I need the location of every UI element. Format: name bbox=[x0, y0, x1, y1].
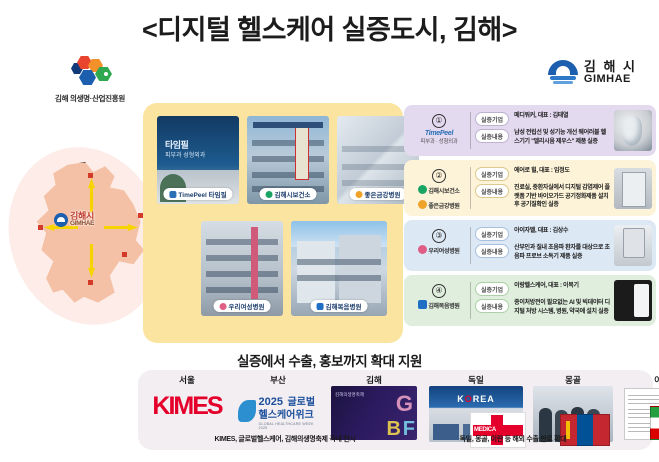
gimhae-city-emblem-icon bbox=[548, 58, 578, 88]
card-3-thumbnail bbox=[614, 225, 652, 266]
photo-label: 김해복음병원 bbox=[311, 300, 368, 312]
city-label-busan: 부산 bbox=[234, 374, 322, 386]
card-4-org: ④ 김해복음병원 bbox=[408, 280, 470, 312]
photo-health-center: 김해시보건소 bbox=[247, 116, 329, 204]
card-2-org-sub: 좋은금강병원 bbox=[428, 204, 459, 210]
card-3-content-row: 실증내용 산부인과 질내 초음파 환자를 대상으로 초음파 프로브 소독기 제품… bbox=[475, 244, 611, 261]
photo-panel: 타임필 피부과 성형외과 TimePeel 타임필 김해시보건소 bbox=[143, 103, 403, 343]
card-1-content-row: 실증내용 남성 전립선 및 성기능 개선 웨어러블 헬스기기 "엘리시움 제우스… bbox=[475, 129, 611, 146]
card-1-company: 메디워커, 대표 : 김태열 bbox=[514, 112, 568, 121]
map-city-emblem-icon bbox=[54, 213, 68, 227]
photo-label: 김해시보건소 bbox=[260, 188, 317, 200]
card-4-content: 종이처방전이 필요없는 AI 및 빅데이터 디지털 처방 시스템, 병원, 약국… bbox=[514, 299, 611, 316]
card-1-company-row: 실증기업 메디워커, 대표 : 김태열 bbox=[475, 112, 611, 126]
badge-company: 실증기업 bbox=[475, 112, 509, 126]
logo-left-caption: 김해 의생명·산업진흥원 bbox=[30, 93, 150, 104]
badge-company: 실증기업 bbox=[475, 167, 509, 181]
card-3-number: ③ bbox=[432, 229, 446, 243]
card-3-org-main: 우리여성병원 bbox=[428, 249, 459, 255]
logo-gimhae-biomedical: 김해 의생명·산업진흥원 bbox=[30, 56, 150, 104]
card-2[interactable]: ② 김해시보건소 좋은금강병원 실증기업 에어로 힐, 대표 : 임정도 실증내… bbox=[404, 160, 656, 216]
logo-gimhae-city: 김 해 시 GIMHAE bbox=[548, 58, 637, 88]
card-4-number: ④ bbox=[432, 284, 446, 298]
card-4[interactable]: ④ 김해복음병원 실증기업 이랑헬스케어, 대표 : 이복기 실증내용 종이처방… bbox=[404, 275, 656, 326]
womens-hospital-icon bbox=[418, 245, 427, 254]
city-label-germany: 독일 bbox=[426, 374, 526, 386]
card-3-company-row: 실증기업 아이자벨, 대표 : 김상수 bbox=[475, 227, 611, 241]
divider bbox=[470, 167, 471, 209]
caption-domestic: KIMES, 글로벌헬스케어, 김해의생명축제 국내 전시 bbox=[160, 434, 410, 444]
health-center-icon bbox=[418, 185, 427, 194]
city-logo-en: GIMHAE bbox=[584, 74, 637, 86]
photo-sign-sub: 피부과 성형외과 bbox=[165, 150, 205, 159]
card-2-org-main: 김해시보건소 bbox=[428, 189, 459, 195]
badge-content: 실증내용 bbox=[475, 129, 509, 143]
map-center-en: GIMHAE bbox=[70, 221, 94, 228]
badge-content: 실증내용 bbox=[475, 299, 509, 313]
card-2-thumbnail bbox=[614, 168, 652, 209]
city-logo-kr: 김 해 시 bbox=[584, 60, 637, 74]
city-label-mongolia: 몽골 bbox=[530, 374, 616, 386]
badge-content: 실증내용 bbox=[475, 184, 509, 198]
card-1-org: ① TimePeel 피부과 · 성형외과 bbox=[408, 110, 470, 146]
card-2-number: ② bbox=[432, 169, 446, 183]
card-1-content: 남성 전립선 및 성기능 개선 웨어러블 헬스기기 "엘리시움 제우스" 제품 … bbox=[514, 129, 611, 146]
ghw-wave-icon bbox=[238, 400, 256, 422]
map-node bbox=[38, 225, 43, 230]
card-3-company: 아이자벨, 대표 : 김상수 bbox=[514, 227, 568, 236]
kimes-logo: KIMES bbox=[152, 392, 221, 420]
city-label-iran: 이란 bbox=[618, 374, 659, 386]
city-label-gimhae: 김해 bbox=[328, 374, 420, 386]
map-node bbox=[122, 252, 127, 257]
card-1-org-sub: 피부과 · 성형외과 bbox=[408, 139, 470, 146]
card-1-number: ① bbox=[432, 114, 446, 128]
card-4-thumbnail bbox=[614, 280, 652, 321]
section-title: 실증에서 수출, 홍보까지 확대 지원 bbox=[0, 350, 659, 370]
map-center-label: 김해시 GIMHAE bbox=[54, 212, 94, 228]
photo-woori-womens-hospital: 우리여성병원 bbox=[201, 221, 283, 316]
caption-overseas: 독일, 몽골, 이란 등 해외 수출 판로 확대 bbox=[398, 434, 628, 444]
badge-content: 실증내용 bbox=[475, 244, 509, 258]
card-2-content-row: 실증내용 진료실, 중환자실에서 디지털 감염제어 플랫폼 기반 바이오가드 공… bbox=[475, 184, 611, 210]
divider bbox=[470, 282, 471, 319]
divider bbox=[470, 227, 471, 264]
photo-bokeum-hospital: 김해복음병원 bbox=[291, 221, 387, 316]
map-node bbox=[88, 173, 93, 178]
biomedical-logo-icon bbox=[68, 56, 112, 90]
ghw-sub: GLOBAL HEALTHCARE WEEK 2025 bbox=[259, 422, 322, 430]
card-1[interactable]: ① TimePeel 피부과 · 성형외과 실증기업 메디워커, 대표 : 김태… bbox=[404, 105, 656, 156]
poster-text: 김해의생명축제 bbox=[335, 392, 364, 398]
page-title: <디지털 헬스케어 실증도시, 김해> bbox=[0, 8, 659, 47]
divider bbox=[470, 112, 471, 149]
ghw-year: 2025 bbox=[259, 396, 283, 408]
photo-label: TimePeel 타임필 bbox=[163, 188, 232, 200]
card-3-content: 산부인과 질내 초음파 환자를 대상으로 초음파 프로브 소독기 제품 실증 bbox=[514, 244, 611, 261]
card-4-org-main: 김해복음병원 bbox=[428, 304, 459, 310]
card-4-content-row: 실증내용 종이처방전이 필요없는 AI 및 빅데이터 디지털 처방 시스템, 병… bbox=[475, 299, 611, 316]
card-4-company: 이랑헬스케어, 대표 : 이복기 bbox=[514, 282, 579, 291]
card-1-org-main: TimePeel bbox=[408, 130, 470, 139]
iran-flag bbox=[650, 406, 659, 440]
card-2-company-row: 실증기업 에어로 힐, 대표 : 임정도 bbox=[475, 167, 611, 181]
map-node bbox=[88, 280, 93, 285]
gimhae-festival-poster: 김해의생명축제 G B F bbox=[331, 386, 417, 440]
hospital-icon bbox=[418, 200, 427, 209]
card-1-thumbnail bbox=[614, 110, 652, 151]
photo-timepeel: 타임필 피부과 성형외과 TimePeel 타임필 bbox=[157, 116, 239, 204]
bokeum-hospital-icon bbox=[418, 300, 427, 309]
card-3-org: ③ 우리여성병원 bbox=[408, 225, 470, 257]
card-2-company: 에어로 힐, 대표 : 임정도 bbox=[514, 167, 570, 176]
card-2-org: ② 김해시보건소 좋은금강병원 bbox=[408, 165, 470, 211]
card-3[interactable]: ③ 우리여성병원 실증기업 아이자벨, 대표 : 김상수 실증내용 산부인과 질… bbox=[404, 220, 656, 271]
photo-label: 우리여성병원 bbox=[214, 300, 271, 312]
ghw-kr2: 헬스케어위크 bbox=[259, 410, 322, 422]
card-4-company-row: 실증기업 이랑헬스케어, 대표 : 이복기 bbox=[475, 282, 611, 296]
card-2-content: 진료실, 중환자실에서 디지털 감염제어 플랫폼 기반 바이오가드 공기정화제품… bbox=[514, 184, 611, 210]
city-label-seoul: 서울 bbox=[142, 374, 232, 386]
ghw-kr1: 글로벌 bbox=[287, 397, 315, 408]
badge-company: 실증기업 bbox=[475, 227, 509, 241]
badge-company: 실증기업 bbox=[475, 282, 509, 296]
photo-label: 좋은금강병원 bbox=[350, 188, 407, 200]
infographic-root: <디지털 헬스케어 실증도시, 김해> 김해 의생명·산업진흥원 김 해 시 G… bbox=[0, 0, 659, 462]
demonstration-cards: ① TimePeel 피부과 · 성형외과 실증기업 메디워커, 대표 : 김태… bbox=[404, 105, 656, 330]
